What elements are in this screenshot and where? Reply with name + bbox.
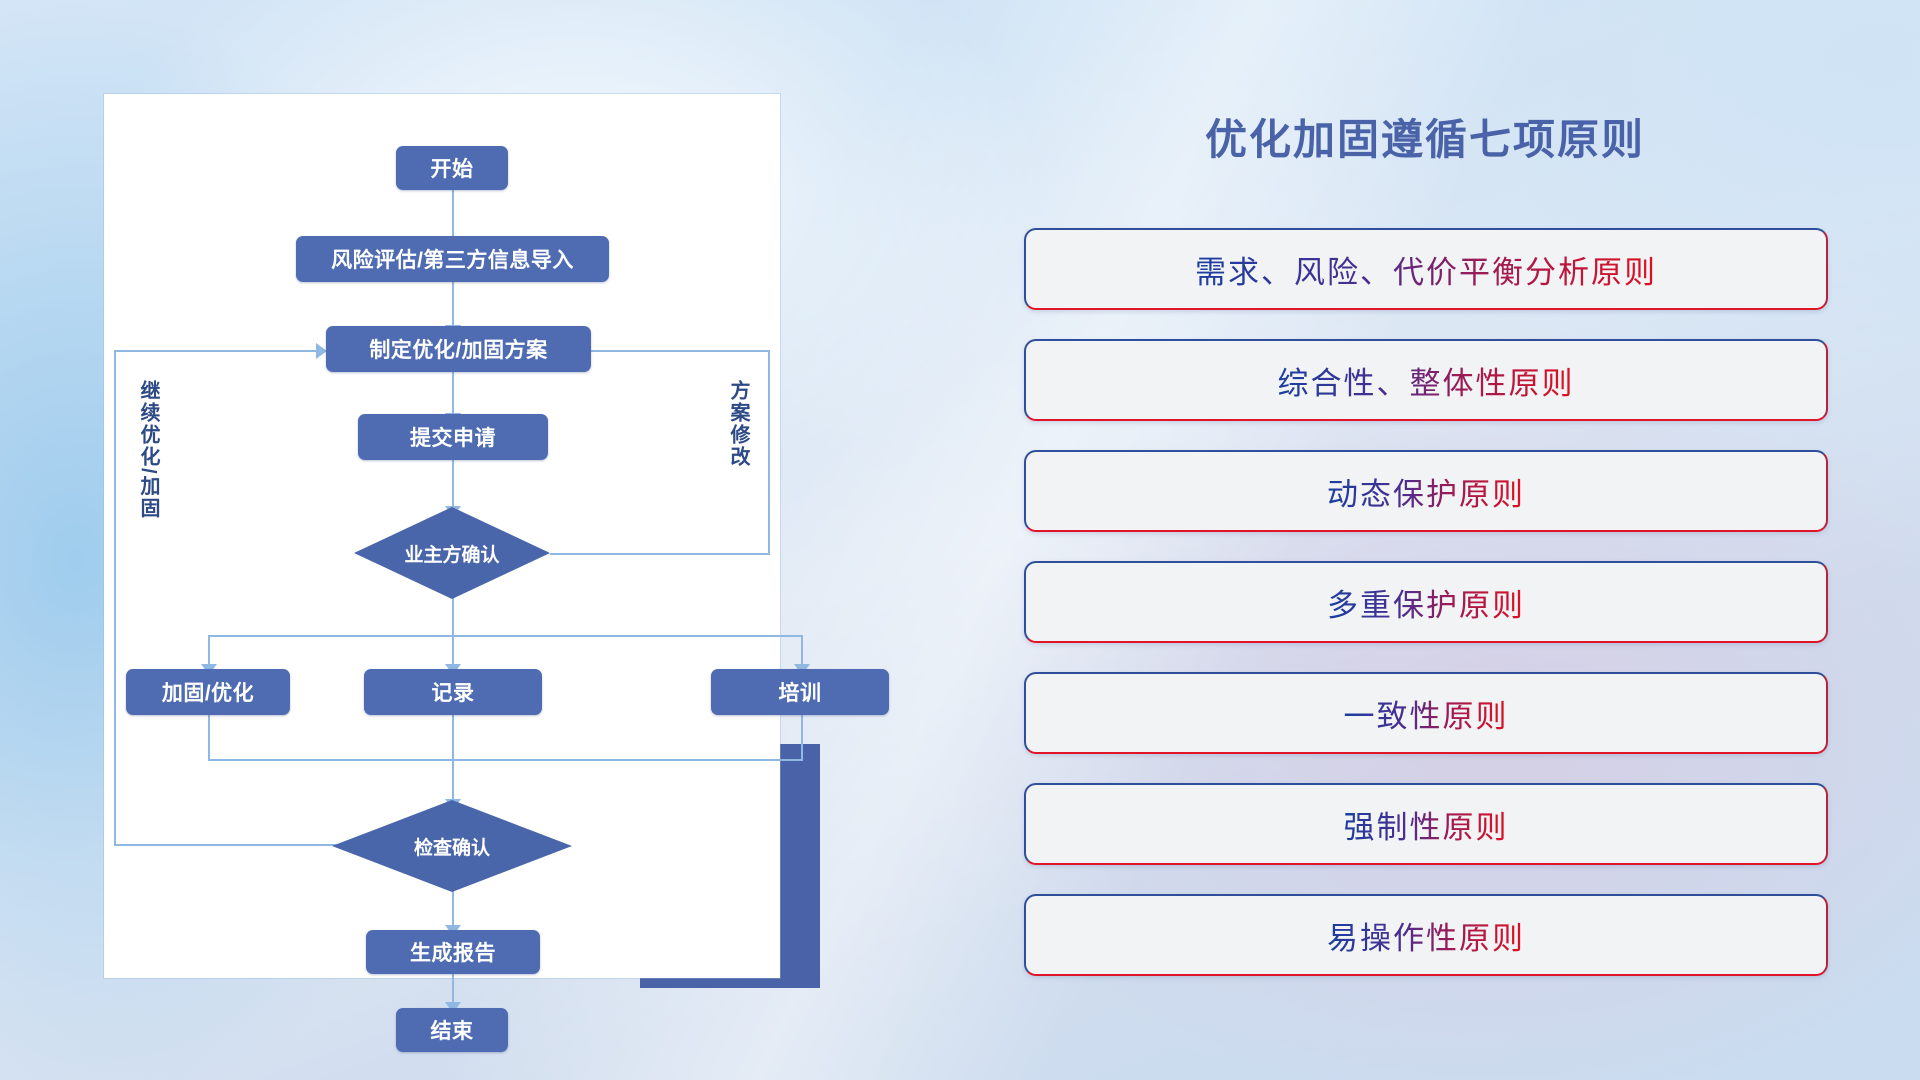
flowchart-card: 开始 风险评估/第三方信息导入 制定优化/加固方案 提交申请 业主方确认 加固/… [104, 94, 780, 978]
flow-node-generate-report[interactable]: 生成报告 [366, 930, 540, 974]
flow-node-label: 检查确认 [414, 833, 490, 860]
connector-merge-bus [208, 759, 803, 761]
edge-label-plan-revision: 方案修改 [724, 380, 753, 468]
connector-record-check [452, 715, 454, 804]
edge-label-continue-optimize: 继续优化/加固 [134, 380, 163, 520]
connector-fanout-bus [208, 635, 803, 637]
panel-title: 优化加固遵循七项原则 [1010, 106, 1840, 167]
connector-reinforce-merge [208, 715, 210, 761]
flow-node-label: 加固/优化 [162, 677, 254, 707]
principle-card-label: 一致性原则 [1344, 691, 1509, 736]
flow-node-submit-application[interactable]: 提交申请 [358, 414, 548, 460]
flow-node-label: 制定优化/加固方案 [369, 334, 547, 364]
principle-card-label: 动态保护原则 [1327, 469, 1525, 514]
connector-submit-owner [452, 460, 454, 512]
flow-decision-inspection-confirm[interactable]: 检查确认 [332, 800, 572, 892]
flow-node-label: 结束 [431, 1015, 474, 1045]
flow-node-label: 风险评估/第三方信息导入 [331, 244, 574, 274]
connector-train-merge [801, 715, 803, 761]
flow-node-training[interactable]: 培训 [711, 669, 889, 715]
flow-node-label: 培训 [779, 677, 822, 707]
connector-loop-right-to-plan [590, 350, 770, 352]
flow-node-label: 记录 [432, 677, 475, 707]
connector-risk-plan [452, 279, 454, 331]
principle-card-7[interactable]: 易操作性原则 [1024, 894, 1828, 976]
principles-panel: 优化加固遵循七项原则 需求、风险、代价平衡分析原则 综合性、整体性原则 动态保护… [1010, 86, 1840, 1006]
flow-node-label: 业主方确认 [404, 540, 499, 567]
connector-plan-submit [452, 369, 454, 419]
principle-card-label: 强制性原则 [1344, 802, 1509, 847]
flow-node-record[interactable]: 记录 [364, 669, 542, 715]
connector-loop-left-to-plan [114, 350, 326, 352]
connector-start-risk [452, 188, 454, 242]
principle-card-label: 多重保护原则 [1327, 580, 1525, 625]
flow-node-label: 生成报告 [410, 937, 496, 967]
flow-node-start[interactable]: 开始 [396, 146, 508, 190]
principle-card-label: 综合性、整体性原则 [1278, 358, 1575, 403]
flow-node-risk-assessment[interactable]: 风险评估/第三方信息导入 [296, 236, 609, 282]
principle-card-4[interactable]: 多重保护原则 [1024, 561, 1828, 643]
principle-card-label: 易操作性原则 [1327, 913, 1525, 958]
connector-owner-loop-right [550, 553, 770, 555]
connector-owner-bus [452, 595, 454, 637]
principle-card-label: 需求、风险、代价平衡分析原则 [1195, 247, 1657, 292]
connector-loop-left-riser [114, 350, 116, 846]
principle-card-3[interactable]: 动态保护原则 [1024, 450, 1828, 532]
flow-node-label: 开始 [431, 153, 474, 183]
flow-node-plan[interactable]: 制定优化/加固方案 [326, 326, 591, 372]
principle-card-5[interactable]: 一致性原则 [1024, 672, 1828, 754]
flow-decision-owner-confirm[interactable]: 业主方确认 [354, 507, 550, 599]
principle-card-1[interactable]: 需求、风险、代价平衡分析原则 [1024, 228, 1828, 310]
flow-node-label: 提交申请 [410, 422, 496, 452]
flowchart-canvas: 开始 风险评估/第三方信息导入 制定优化/加固方案 提交申请 业主方确认 加固/… [104, 94, 780, 978]
flow-node-end[interactable]: 结束 [396, 1008, 508, 1052]
principle-card-2[interactable]: 综合性、整体性原则 [1024, 339, 1828, 421]
connector-loop-right-riser [768, 350, 770, 555]
principle-card-6[interactable]: 强制性原则 [1024, 783, 1828, 865]
flow-node-reinforce-optimize[interactable]: 加固/优化 [126, 669, 290, 715]
